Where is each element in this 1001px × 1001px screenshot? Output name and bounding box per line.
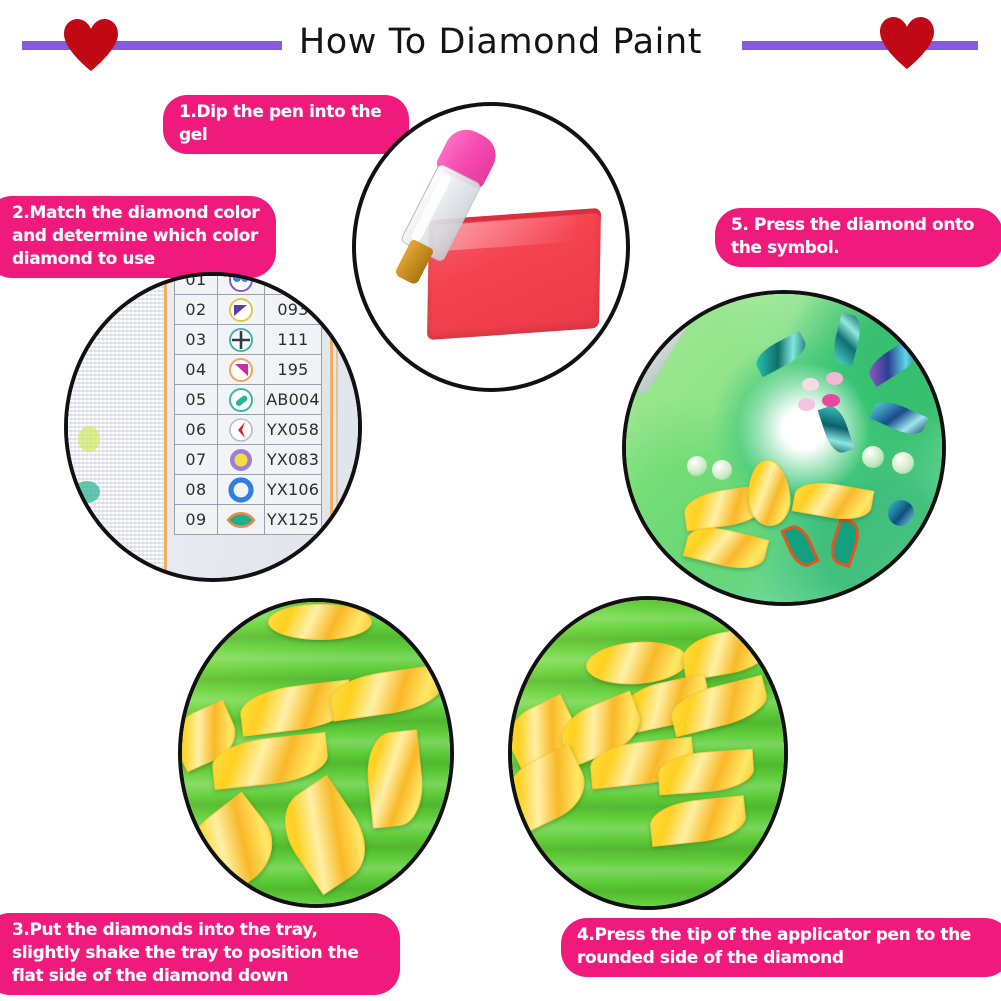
diamond-gem bbox=[892, 452, 914, 474]
legend-no: 02 bbox=[175, 295, 218, 325]
legend-no: 05 bbox=[175, 385, 218, 415]
legend-symbol bbox=[218, 355, 265, 385]
table-row: 08 YX106 bbox=[175, 475, 322, 505]
step-4-label: 4.Press the tip of the applicator pen to… bbox=[561, 918, 1001, 977]
table-row: 07 YX083 bbox=[175, 445, 322, 475]
chart-margin-line bbox=[330, 276, 333, 578]
table-row: 02 093 bbox=[175, 295, 322, 325]
table-row: 06 YX058 bbox=[175, 415, 322, 445]
legend-code: YX058 bbox=[265, 415, 322, 445]
symbol-legend-table: 01 028 02 bbox=[174, 272, 322, 535]
legend-symbol bbox=[218, 505, 265, 535]
step-5-photo bbox=[622, 290, 946, 606]
legend-code: AB004 bbox=[265, 385, 322, 415]
legend-symbol bbox=[218, 272, 265, 295]
magenta-triangle-icon bbox=[228, 357, 254, 383]
step-3-photo bbox=[178, 598, 454, 908]
diamond-gem bbox=[712, 460, 732, 480]
legend-code: 111 bbox=[265, 325, 322, 355]
canvas-printed-dot bbox=[78, 426, 100, 452]
legend-no: 04 bbox=[175, 355, 218, 385]
legend-no: 07 bbox=[175, 445, 218, 475]
legend-symbol bbox=[218, 325, 265, 355]
legend-no: 03 bbox=[175, 325, 218, 355]
step-1-photo bbox=[352, 102, 630, 392]
table-row: 01 028 bbox=[175, 272, 322, 295]
legend-rows: 01 028 02 bbox=[175, 272, 322, 535]
teal-plus-icon bbox=[228, 327, 254, 353]
chart-margin-line bbox=[164, 276, 167, 578]
diamond-gem bbox=[862, 446, 884, 468]
step-4-photo bbox=[508, 596, 788, 910]
diamond-gem bbox=[798, 398, 815, 411]
diamond-gem bbox=[822, 394, 840, 407]
red-arrow-icon bbox=[228, 417, 254, 443]
legend-code: 195 bbox=[265, 355, 322, 385]
legend-symbol bbox=[218, 415, 265, 445]
diamond-gem bbox=[687, 456, 707, 476]
legend-symbol bbox=[218, 475, 265, 505]
legend-no: 08 bbox=[175, 475, 218, 505]
chart-margin-line bbox=[336, 276, 338, 578]
step-5-label: 5. Press the diamond onto the symbol. bbox=[715, 208, 1001, 267]
canvas-printed-dot bbox=[74, 481, 100, 503]
legend-code: YX125 bbox=[265, 505, 322, 535]
legend-code: YX083 bbox=[265, 445, 322, 475]
legend-no: 09 bbox=[175, 505, 218, 535]
step-2-label: 2.Match the diamond color and determine … bbox=[0, 196, 276, 278]
diamond-gem bbox=[826, 372, 843, 385]
legend-no: 06 bbox=[175, 415, 218, 445]
legend-symbol bbox=[218, 385, 265, 415]
table-row: 05 AB004 bbox=[175, 385, 322, 415]
step-3-label: 3.Put the diamonds into the tray, slight… bbox=[0, 913, 400, 995]
table-row: 04 195 bbox=[175, 355, 322, 385]
legend-code: 093 bbox=[265, 295, 322, 325]
teal-capsule-icon bbox=[228, 387, 254, 413]
yellow-dot-purple-ring-icon bbox=[228, 447, 254, 473]
canvas-fabric bbox=[68, 276, 164, 578]
legend-code: YX106 bbox=[265, 475, 322, 505]
blue-ring-icon bbox=[228, 477, 254, 503]
teal-marquise-orange-outline-icon bbox=[226, 507, 256, 533]
diamond-gem bbox=[888, 500, 914, 526]
blue-double-dot-icon bbox=[228, 272, 254, 293]
page-title: How To Diamond Paint bbox=[0, 20, 1001, 64]
infographic-canvas: How To Diamond Paint 1.Dip the pen into … bbox=[0, 0, 1001, 1001]
legend-code: 028 bbox=[265, 272, 322, 295]
step-2-photo: 01 028 02 bbox=[64, 272, 362, 582]
table-row: 09 YX125 bbox=[175, 505, 322, 535]
legend-no: 01 bbox=[175, 272, 218, 295]
diamond-gem bbox=[802, 378, 819, 391]
legend-symbol bbox=[218, 295, 265, 325]
table-row: 03 111 bbox=[175, 325, 322, 355]
legend-symbol bbox=[218, 445, 265, 475]
diamond-gem bbox=[268, 604, 372, 640]
purple-triangle-icon bbox=[228, 297, 254, 323]
